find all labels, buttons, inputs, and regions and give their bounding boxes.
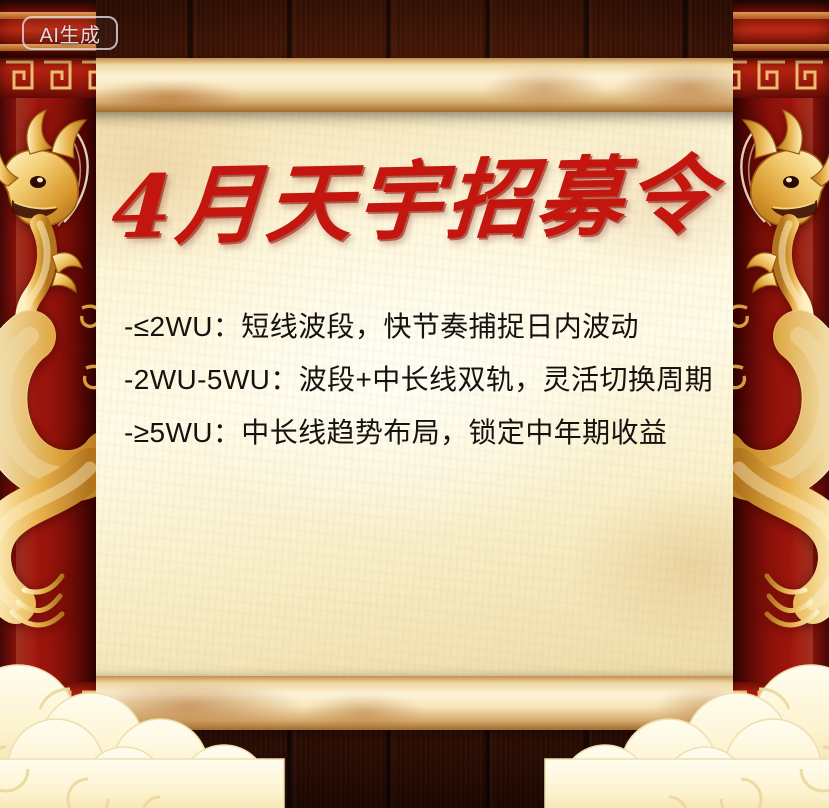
golden-dragon-left — [0, 96, 96, 636]
cloud-layer — [0, 638, 829, 808]
pillar-cap-right — [733, 0, 829, 58]
greek-key-pattern-icon — [733, 52, 829, 98]
ai-generated-badge: AI生成 — [22, 16, 118, 50]
golden-dragon-right — [733, 96, 829, 636]
auspicious-cloud-right — [515, 639, 829, 808]
scroll-roller-top — [54, 58, 775, 112]
pillar-cap-ring — [733, 12, 829, 19]
recruitment-tier-item: -≥5WU：中长线趋势布局，锁定中年期收益 — [124, 413, 739, 453]
scroll-banner: 4月天宇招募令 -≤2WU：短线波段，快节奏捕捉日内波动 -2WU-5WU：波段… — [62, 58, 767, 730]
scroll-paper: 4月天宇招募令 -≤2WU：短线波段，快节奏捕捉日内波动 -2WU-5WU：波段… — [68, 92, 761, 696]
ai-generated-badge-label: AI生成 — [40, 19, 101, 48]
greek-key-band-top-left — [0, 52, 96, 98]
recruitment-tier-item: -2WU-5WU：波段+中长线双轨，灵活切换周期 — [124, 360, 739, 400]
pillar-cap-ring — [733, 44, 829, 51]
poster-root: AI生成 — [0, 0, 829, 808]
auspicious-cloud-left — [0, 639, 314, 808]
recruitment-tier-item: -≤2WU：短线波段，快节奏捕捉日内波动 — [124, 307, 739, 347]
recruitment-tier-list: -≤2WU：短线波段，快节奏捕捉日内波动 -2WU-5WU：波段+中长线双轨，灵… — [90, 307, 739, 452]
scroll-content: 4月天宇招募令 -≤2WU：短线波段，快节奏捕捉日内波动 -2WU-5WU：波段… — [68, 92, 761, 696]
poster-title: 4月天宇招募令 — [86, 149, 742, 254]
greek-key-band-top-right — [733, 52, 829, 98]
greek-key-pattern-icon — [0, 52, 96, 98]
